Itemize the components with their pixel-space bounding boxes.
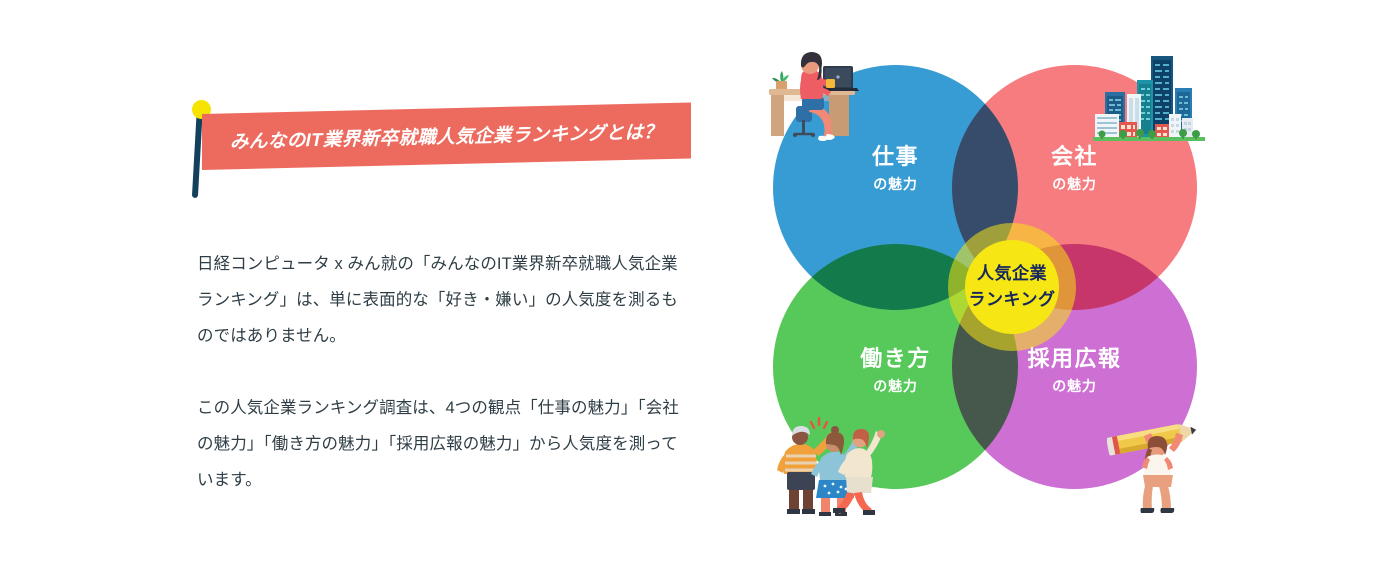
venn-center-circle — [965, 240, 1059, 334]
body-paragraph-2: この人気企業ランキング調査は、4つの観点「仕事の魅力」「会社の魅力」「働き方の魅… — [197, 390, 693, 498]
left-content-column: みんなのIT業界新卒就職人気企業ランキングとは？ 日経コンピュータ x みん就の… — [0, 0, 730, 580]
section-heading-flag-banner: みんなのIT業界新卒就職人気企業ランキングとは？ — [197, 100, 697, 200]
four-circle-venn-diagram: 仕事 の魅力 会社 の魅力 働き方 の魅力 採用広報 の魅力 人気企業 ランキン… — [755, 40, 1215, 540]
body-paragraph-1: 日経コンピュータ x みん就の「みんなのIT業界新卒就職人気企業ランキング」は、… — [197, 246, 693, 354]
body-copy: 日経コンピュータ x みん就の「みんなのIT業界新卒就職人気企業ランキング」は、… — [197, 246, 693, 498]
